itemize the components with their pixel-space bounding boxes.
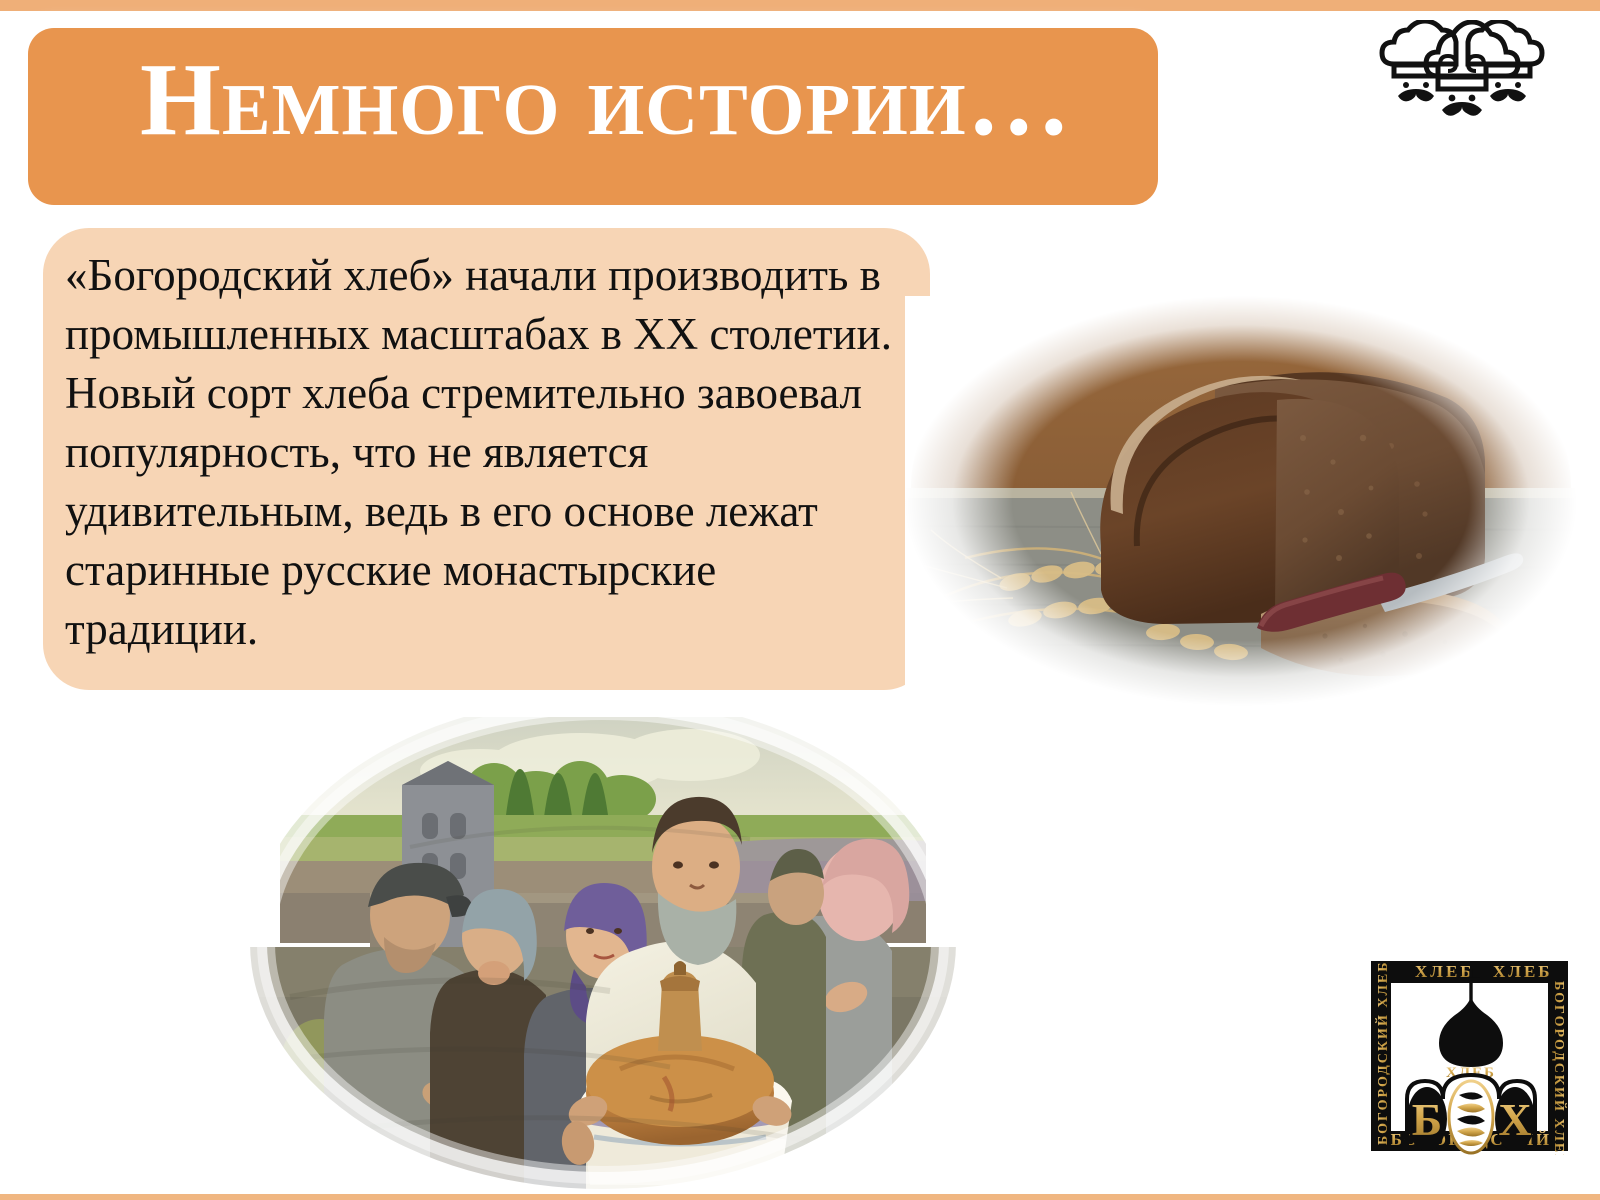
bread-loaf-photo <box>905 296 1577 706</box>
body-paragraph: «Богородский хлеб» начали производить в … <box>65 246 910 659</box>
logo-left-side-text: БОГОРОДСКИЙ ХЛЕБ <box>1374 961 1391 1145</box>
logo-top-right-text: ХЛЕБ <box>1493 962 1553 981</box>
bottom-decorative-strip <box>0 1194 1600 1200</box>
top-decorative-strip <box>0 0 1600 11</box>
logo-monogram-b: Б <box>1412 1094 1442 1145</box>
bogorodsky-khleb-logo: ХЛЕБ ХЛЕБ БОГОРОДСКИЙ БОГОРОДСКИЙ ХЛЕБ Б… <box>1367 947 1572 1155</box>
slide-canvas: Немного истории… <box>0 0 1600 1200</box>
body-text-card: «Богородский хлеб» начали производить в … <box>43 228 930 690</box>
page-title: Немного истории… <box>140 48 1120 152</box>
chef-hats-icon <box>1376 20 1548 120</box>
logo-right-side-text: БОГОРОДСКИЙ ХЛЕБ <box>1551 981 1568 1155</box>
bread-and-salt-painting <box>250 697 956 1189</box>
logo-monogram-kh: Х <box>1498 1094 1531 1145</box>
